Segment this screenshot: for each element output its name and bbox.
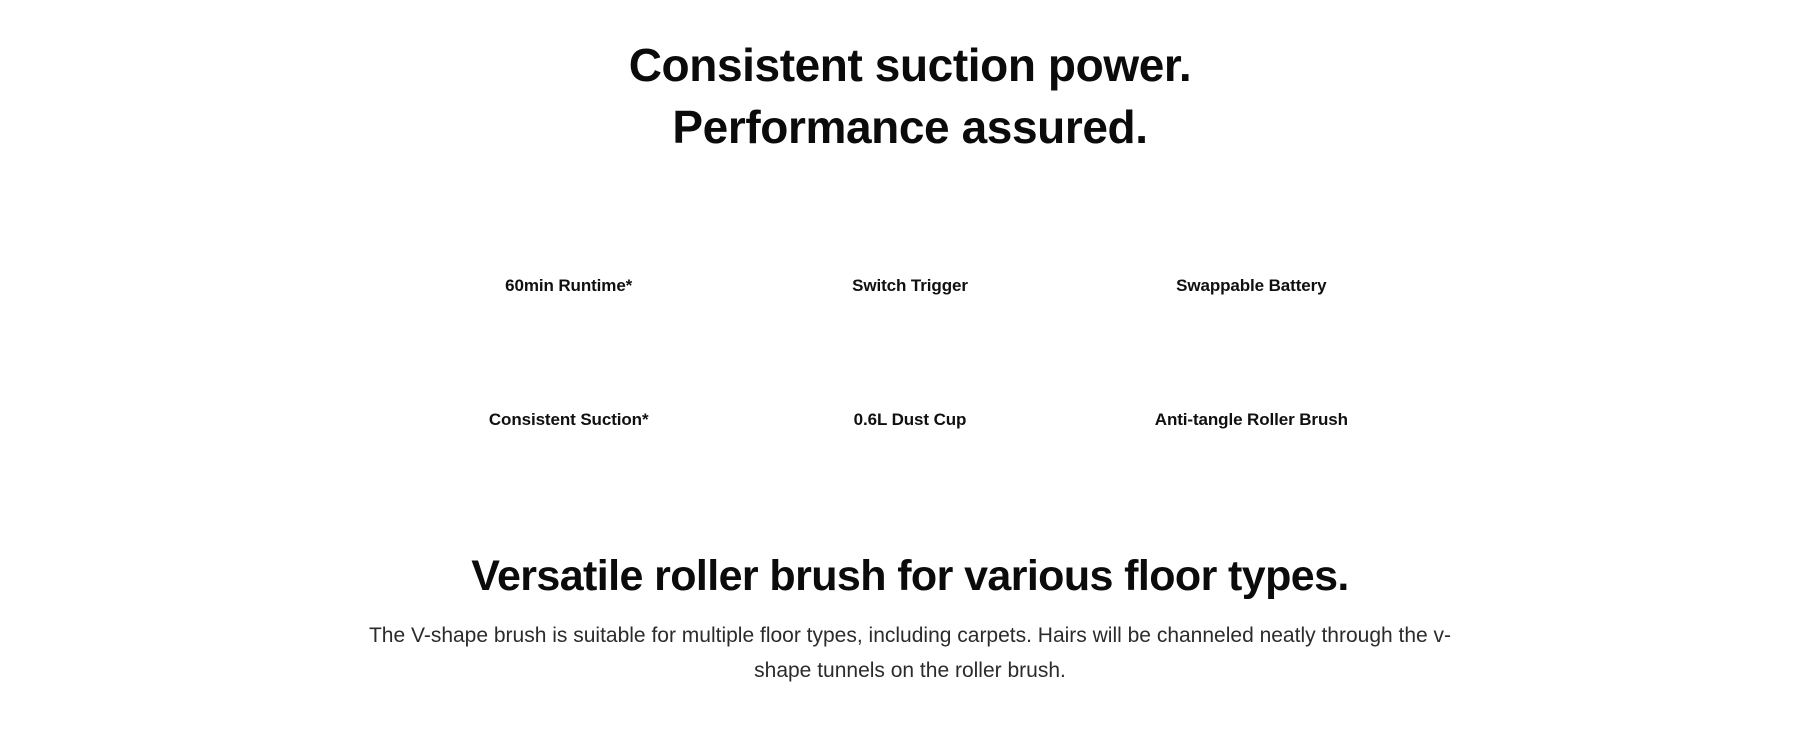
feature-label: Consistent Suction* — [489, 408, 649, 432]
feature-label: 0.6L Dust Cup — [854, 408, 967, 432]
product-feature-page: Consistent suction power. Performance as… — [0, 0, 1820, 749]
feature-label: Switch Trigger — [852, 274, 968, 298]
switch-trigger-icon — [866, 180, 954, 264]
battery-runtime-icon — [525, 180, 613, 264]
feature-label: Swappable Battery — [1176, 274, 1326, 298]
hero-headline-line-1: Consistent suction power. — [0, 34, 1820, 96]
feature-item-swappable-battery: Swappable Battery — [1081, 180, 1422, 298]
swappable-battery-icon — [1207, 180, 1295, 264]
feature-item-runtime: 60min Runtime* — [398, 180, 739, 298]
section-heading: Versatile roller brush for various floor… — [0, 548, 1820, 604]
feature-item-switch-trigger: Switch Trigger — [739, 180, 1080, 298]
roller-brush-icon — [1207, 314, 1295, 398]
hero-headline: Consistent suction power. Performance as… — [0, 34, 1820, 158]
feature-row: Consistent Suction* 0.6L Dust Cup Anti-t… — [398, 314, 1422, 432]
dust-cup-icon — [866, 314, 954, 398]
roller-brush-section: Versatile roller brush for various floor… — [0, 548, 1820, 688]
suction-power-icon — [525, 314, 613, 398]
feature-item-roller-brush: Anti-tangle Roller Brush — [1081, 314, 1422, 432]
feature-item-dust-cup: 0.6L Dust Cup — [739, 314, 1080, 432]
feature-label: 60min Runtime* — [505, 274, 632, 298]
feature-label: Anti-tangle Roller Brush — [1155, 408, 1348, 432]
feature-row: 60min Runtime* Switch Trigger Swappable … — [398, 180, 1422, 298]
hero-headline-line-2: Performance assured. — [0, 96, 1820, 158]
section-body-text: The V-shape brush is suitable for multip… — [355, 618, 1465, 688]
feature-grid: 60min Runtime* Switch Trigger Swappable … — [398, 180, 1422, 432]
feature-item-consistent-suction: Consistent Suction* — [398, 314, 739, 432]
